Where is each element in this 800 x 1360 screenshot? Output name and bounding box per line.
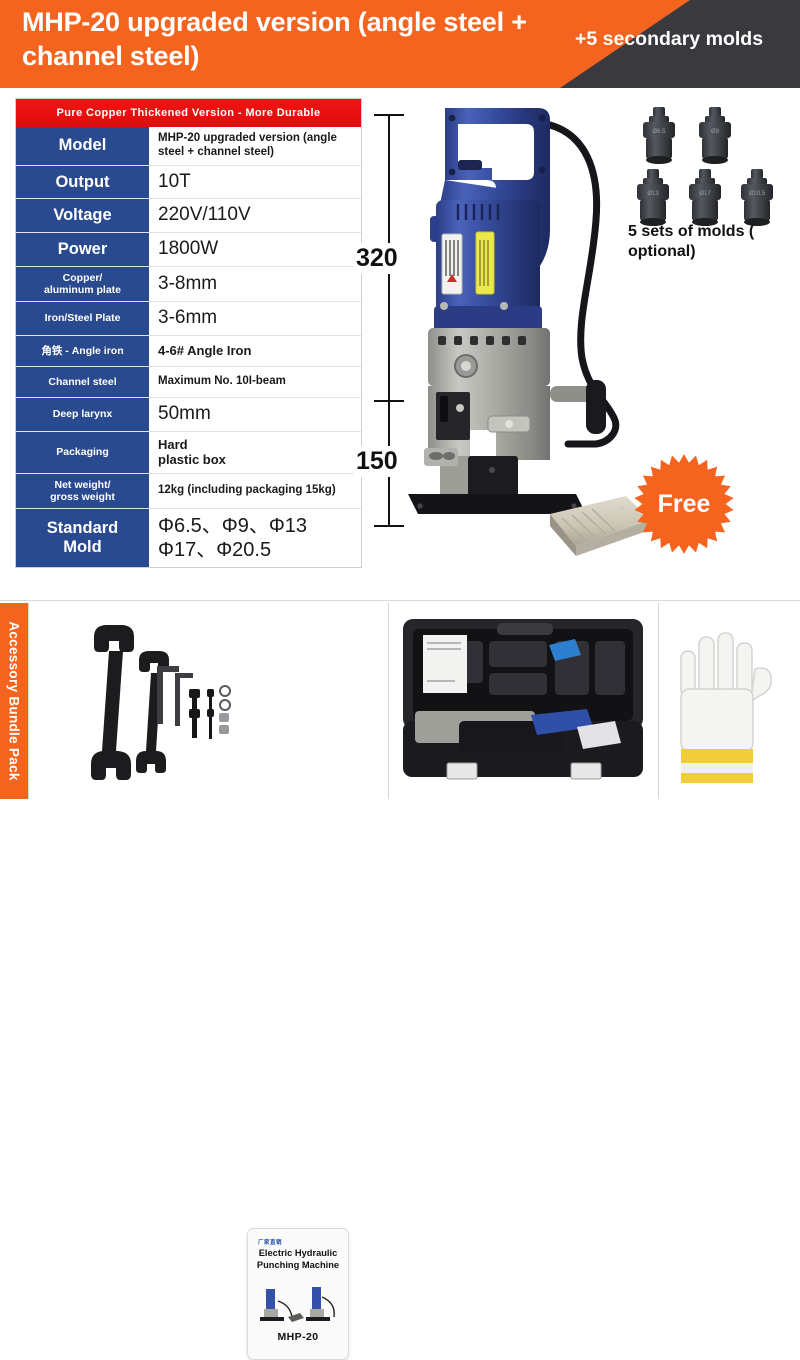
carry-case-photo (389, 603, 659, 799)
adjust-screw (505, 420, 513, 428)
anvil-hole-b (443, 452, 455, 460)
spec-row-value: 1800W (149, 233, 361, 266)
spec-row: Deep larynx50mm (16, 397, 361, 431)
spec-row-label: Deep larynx (16, 398, 149, 431)
warning-label (476, 232, 494, 294)
side-handle-grip (586, 380, 606, 434)
manual-machine-a (260, 1289, 304, 1322)
side-handle-shaft (550, 386, 592, 402)
spec-row-label: Net weight/ gross weight (16, 474, 149, 508)
case-handle (497, 623, 553, 635)
mold-item: Ø20.5 (734, 167, 780, 229)
trigger-switch (458, 160, 482, 170)
mold-size-label: Ø9 (711, 129, 720, 135)
spec-row: Iron/Steel Plate3-6mm (16, 301, 361, 335)
dimension-label-depth: 150 (354, 446, 400, 477)
pedal-screw (619, 505, 625, 511)
base-hole-l (417, 503, 422, 508)
free-badge-tool: Free (632, 452, 736, 556)
spec-table-body: ModelMHP-20 upgraded version (angle stee… (16, 127, 361, 567)
wrench-large-icon (91, 625, 134, 780)
side-button (430, 216, 439, 242)
spec-row: Net weight/ gross weight12kg (including … (16, 473, 361, 508)
spec-row-label: Power (16, 233, 149, 266)
power-cord (550, 125, 614, 418)
mold-item: Ø17 (682, 167, 728, 229)
manual-illustration (252, 1277, 344, 1333)
spec-row: Channel steelMaximum No. 10I-beam (16, 366, 361, 397)
base-hole-r (571, 503, 576, 508)
spec-row-label: Channel steel (16, 367, 149, 397)
bundle-cell-tools: 厂家直销 Electric Hydraulic Punching Machine (28, 603, 388, 799)
collar-bolt-left (440, 302, 448, 310)
dimension-label-height: 320 (354, 243, 400, 274)
mold-size-label: Ø13 (647, 191, 659, 197)
anvil-hole-a (429, 452, 443, 460)
glove-cuff-white (681, 763, 753, 773)
mold-size-label: Ø6.5 (652, 129, 666, 135)
mold-icon: Ø9 (692, 105, 738, 167)
spec-row-value: 3-6mm (149, 302, 361, 335)
spec-row-label: Iron/Steel Plate (16, 302, 149, 335)
base-plate (408, 494, 586, 514)
free-badge-tool-label: Free (632, 452, 736, 556)
gloves-photo (659, 603, 800, 799)
manual-title: Electric Hydraulic Punching Machine (252, 1248, 344, 1271)
bundle-cell-case (388, 603, 658, 799)
mold-icon: Ø13 (630, 167, 676, 229)
accessory-bundle-tab-label: Accessory Bundle Pack (7, 621, 22, 780)
spec-row-value: 50mm (149, 398, 361, 431)
spec-row-label: Copper/ aluminum plate (16, 267, 149, 301)
spec-row: ModelMHP-20 upgraded version (angle stee… (16, 127, 361, 165)
bolts-group (189, 689, 214, 739)
spec-row: Power1800W (16, 232, 361, 266)
spec-row: Standard MoldΦ6.5、Φ9、Φ13 Φ17、Φ20.5 (16, 508, 361, 567)
spec-row-value: Maximum No. 10I-beam (149, 367, 361, 397)
mold-item: Ø9 (692, 105, 738, 167)
spec-row-label: Packaging (16, 432, 149, 473)
molds-caption: 5 sets of molds ( optional) (628, 222, 798, 262)
product-photo-punching-machine (400, 100, 660, 580)
collar-bolt-right (500, 302, 508, 310)
bundle-cell-gloves: Free (658, 603, 800, 799)
spec-banner-text: Pure Copper Thickened Version - More Dur… (57, 107, 321, 119)
spec-row: Copper/ aluminum plate3-8mm (16, 266, 361, 301)
handle-screw-bl (449, 169, 456, 176)
specification-table: Pure Copper Thickened Version - More Dur… (15, 98, 362, 568)
punch-die (440, 396, 448, 422)
case-manual (423, 635, 467, 693)
spec-row-value: 3-8mm (149, 267, 361, 301)
handle-screw-tl (449, 115, 456, 122)
glove-shape (681, 633, 771, 751)
accessory-bundle-section: Accessory Bundle Pack (0, 600, 800, 801)
spec-row-value: 220V/110V (149, 199, 361, 232)
mold-icon: Ø20.5 (734, 167, 780, 229)
spec-row-label: Standard Mold (16, 509, 149, 567)
header-side-label: +5 secondary molds (575, 28, 790, 51)
spec-row-value: Hard plastic box (149, 432, 361, 473)
accessory-bundle-tab: Accessory Bundle Pack (0, 603, 28, 799)
mold-icon: Ø17 (682, 167, 728, 229)
washers-group (220, 686, 230, 710)
nuts-group (219, 713, 229, 734)
header-banner: MHP-20 upgraded version (angle steel + c… (0, 0, 800, 88)
spec-row-label: Voltage (16, 199, 149, 232)
spec-row: Voltage220V/110V (16, 198, 361, 232)
spec-row-value: 4-6# Angle Iron (149, 336, 361, 366)
handle-screw-tr (539, 115, 546, 122)
spec-row: PackagingHard plastic box (16, 431, 361, 473)
mold-size-label: Ø20.5 (749, 191, 766, 197)
spec-row-label: Model (16, 127, 149, 165)
spec-row-label: 角铁 - Angle iron (16, 336, 149, 366)
manual-machine-b (306, 1287, 334, 1321)
page-title: MHP-20 upgraded version (angle steel + c… (22, 6, 562, 74)
mold-item: Ø6.5 (636, 105, 682, 167)
mold-size-label: Ø17 (699, 191, 711, 197)
spec-row-label: Output (16, 166, 149, 199)
manual-booklet: 厂家直销 Electric Hydraulic Punching Machine (247, 1228, 349, 1360)
mold-item: Ø13 (630, 167, 676, 229)
mold-icon: Ø6.5 (636, 105, 682, 167)
glove-cuff-band-upper (681, 749, 753, 763)
spec-row-value: 10T (149, 166, 361, 199)
spec-table-banner: Pure Copper Thickened Version - More Dur… (16, 99, 361, 127)
product-infographic: MHP-20 upgraded version (angle steel + c… (0, 0, 800, 800)
hex-key-small-icon (175, 673, 193, 726)
spec-row-value: Φ6.5、Φ9、Φ13 Φ17、Φ20.5 (149, 509, 361, 567)
base-block (468, 456, 518, 500)
die-screw (456, 404, 464, 412)
spec-row-value: 12kg (including packaging 15kg) (149, 474, 361, 508)
spec-row-value: MHP-20 upgraded version (angle steel + c… (149, 127, 361, 165)
glove-cuff-band-lower (681, 773, 753, 783)
manual-brand: 厂家直销 (258, 1238, 282, 1246)
base-block-screw (489, 467, 495, 473)
manual-model: MHP-20 (252, 1331, 344, 1343)
accessory-tools-photo (29, 603, 389, 799)
spec-row: Output10T (16, 165, 361, 199)
spec-row: 角铁 - Angle iron4-6# Angle Iron (16, 335, 361, 366)
spec-sticker (442, 234, 462, 294)
handle-screw-br (539, 167, 546, 174)
